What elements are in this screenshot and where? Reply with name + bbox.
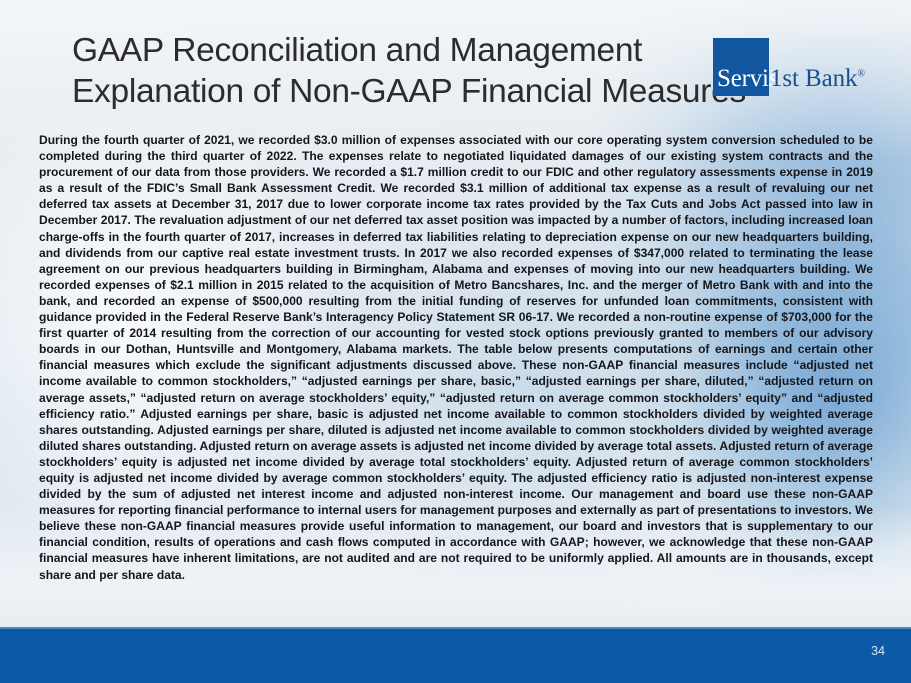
servisfirst-bank-logo: Servis 1st Bank® bbox=[713, 38, 903, 96]
page-title-line-2: Explanation of Non-GAAP Financial Measur… bbox=[72, 71, 772, 112]
body-paragraph: During the fourth quarter of 2021, we re… bbox=[39, 132, 873, 583]
slide-canvas: GAAP Reconciliation and Management Expla… bbox=[0, 0, 911, 683]
footer-bar: 34 bbox=[0, 627, 911, 683]
footer-divider bbox=[0, 627, 911, 629]
registered-trademark-icon: ® bbox=[857, 69, 865, 80]
page-title: GAAP Reconciliation and Management Expla… bbox=[72, 30, 772, 112]
logo-wordmark-label: 1st Bank bbox=[770, 65, 857, 92]
page-title-line-1: GAAP Reconciliation and Management bbox=[72, 30, 772, 71]
page-number: 34 bbox=[871, 644, 885, 658]
logo-wordmark-text: 1st Bank® bbox=[770, 66, 865, 91]
